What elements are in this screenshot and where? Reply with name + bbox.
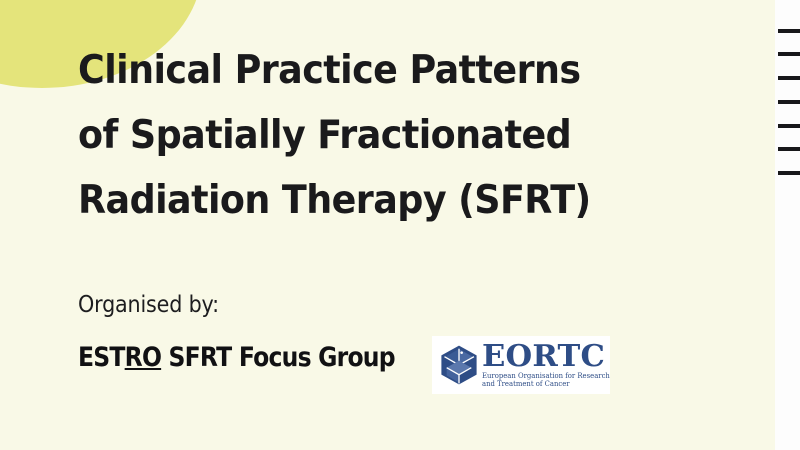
organised-by-label: Organised by: xyxy=(78,292,219,318)
rule-mark xyxy=(778,124,800,128)
title-line-2: of Spatially Fractionated xyxy=(78,103,676,168)
right-edge-rule-marks xyxy=(778,0,800,200)
estro-sfrt-focus-group-lockup: ESTRO SFRT Focus Group xyxy=(78,342,395,373)
title-line-3: Radiation Therapy (SFRT) xyxy=(78,168,676,233)
eortc-wordmark: EORTC xyxy=(482,342,615,372)
rule-mark xyxy=(778,76,800,80)
rule-mark xyxy=(778,100,800,104)
rule-mark xyxy=(778,29,800,33)
eortc-tagline-line-2: and Treatment of Cancer xyxy=(482,380,610,388)
estro-suffix: SFRT Focus Group xyxy=(161,342,395,373)
title-line-1: Clinical Practice Patterns xyxy=(78,38,676,103)
rule-mark xyxy=(778,52,800,56)
slide-canvas: Clinical Practice Patterns of Spatially … xyxy=(0,0,800,450)
eortc-text-block: EORTC European Organisation for Research… xyxy=(482,342,612,389)
eortc-logo: EORTC European Organisation for Research… xyxy=(432,336,610,394)
estro-ro-underlined: RO xyxy=(125,342,161,373)
estro-prefix: EST xyxy=(78,342,125,373)
rule-mark xyxy=(778,147,800,151)
rule-mark xyxy=(778,171,800,175)
page-title: Clinical Practice Patterns of Spatially … xyxy=(78,38,718,233)
eortc-cube-icon xyxy=(437,343,481,387)
eortc-tagline-line-1: European Organisation for Research xyxy=(482,372,610,380)
